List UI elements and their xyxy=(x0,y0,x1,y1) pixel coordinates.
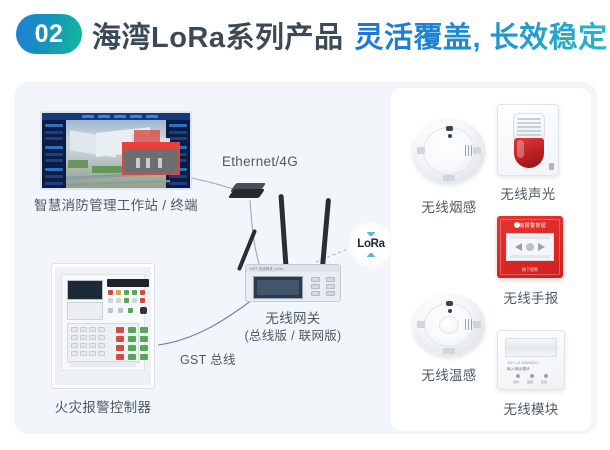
gateway-brand-text: GST 无线网关 LoRa xyxy=(250,266,283,271)
device-sounder-label: 无线声光 xyxy=(488,183,568,203)
monitor-topbar-chip xyxy=(130,115,142,118)
monitor-scene-3d-facility xyxy=(66,120,166,188)
monitor-camera-popup xyxy=(122,142,180,175)
device-mcp-label: 无线手报 xyxy=(489,287,573,307)
arrow-left-icon xyxy=(538,243,545,251)
module-led xyxy=(544,374,548,378)
module-louvre xyxy=(505,338,557,357)
lora-radio-badge: LoRa xyxy=(348,222,394,268)
controller-indicator-bar xyxy=(107,279,149,287)
lora-symbol-icon xyxy=(367,232,376,236)
monitor-left-rail xyxy=(42,120,66,188)
device-sounder-strobe xyxy=(497,104,559,176)
mcp-face-plate xyxy=(506,233,554,261)
controller-label: 火灾报警控制器 xyxy=(43,396,163,416)
gateway-label: 无线网关 xyxy=(243,307,343,327)
device-module-label: 无线模块 xyxy=(489,398,573,418)
uplink-label: Ethernet/4G xyxy=(200,154,320,169)
workstation-monitor xyxy=(40,111,192,190)
controller-keypad xyxy=(67,323,139,363)
section-number-badge: 02 xyxy=(16,14,82,54)
module-model-text: GST-LD-8300/8301 xyxy=(507,361,540,365)
device-heat-detector xyxy=(413,288,485,358)
device-manual-call-point: 手动报警按钮 按下报警 xyxy=(497,216,563,278)
monitor-topbar xyxy=(42,113,190,120)
gateway-antenna xyxy=(320,198,331,268)
gateway-display xyxy=(253,276,303,299)
fire-alarm-controller xyxy=(52,264,154,388)
controller-card-slot xyxy=(67,302,103,320)
mcp-brand-text: 手动报警按钮 xyxy=(497,222,563,229)
title-main-text: 海湾LoRa系列产品 xyxy=(92,14,344,56)
monitor-topbar-chip xyxy=(98,115,110,118)
mcp-footer-text: 按下报警 xyxy=(497,267,563,273)
arrow-right-icon xyxy=(515,243,522,251)
wireless-gateway: GST 无线网关 LoRa xyxy=(239,192,345,302)
module-led-label: 反馈 xyxy=(541,380,547,384)
module-led-label: 故障 xyxy=(527,380,533,384)
monitor-alert-tag xyxy=(134,130,160,142)
page-header: 02 海湾LoRa系列产品 灵活覆盖, 长效稳定 xyxy=(0,0,610,78)
gateway-antenna xyxy=(278,194,288,268)
mcp-press-button[interactable] xyxy=(526,243,534,251)
device-smoke-label: 无线烟感 xyxy=(409,196,489,216)
gateway-sublabel: (总线版 / 联网版) xyxy=(233,325,353,344)
controller-lcd xyxy=(67,280,103,300)
monitor-topbar-chip xyxy=(82,115,94,118)
sounder-grille xyxy=(513,113,545,139)
device-heat-label: 无线温感 xyxy=(409,364,489,384)
device-smoke-detector xyxy=(413,113,485,185)
sounder-strobe-lens xyxy=(514,138,544,168)
gateway-body: GST 无线网关 LoRa xyxy=(245,264,341,302)
module-led-label: 动作 xyxy=(513,380,519,384)
lora-symbol-icon xyxy=(367,253,376,257)
monitor-topbar-chip xyxy=(146,115,158,118)
section-number: 02 xyxy=(35,22,64,47)
page-title: 海湾LoRa系列产品 灵活覆盖, 长效稳定 xyxy=(92,14,608,56)
device-wireless-module: GST-LD-8300/8301 输入/输出模块 动作 故障 反馈 xyxy=(497,330,565,390)
sounder-button xyxy=(549,163,554,170)
module-type-text: 输入/输出模块 xyxy=(507,367,530,372)
title-accent-text: 灵活覆盖, 长效稳定 xyxy=(355,14,608,56)
monitor-topbar-chip xyxy=(114,115,126,118)
lora-label: LoRa xyxy=(351,238,391,250)
workstation-label: 智慧消防管理工作站 / 终端 xyxy=(26,194,206,214)
module-led xyxy=(516,374,520,378)
bus-label: GST 总线 xyxy=(180,349,260,368)
module-led xyxy=(530,374,534,378)
